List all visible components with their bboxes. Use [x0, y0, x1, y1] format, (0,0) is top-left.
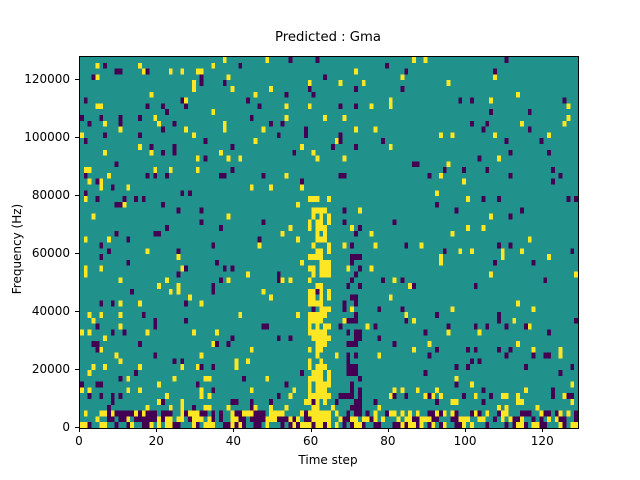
x-tick-label: 20 [149, 434, 164, 448]
x-tick-label: 60 [303, 434, 318, 448]
x-tick-mark [311, 428, 312, 432]
y-tick-label: 120000 [0, 72, 70, 86]
x-tick-label: 80 [380, 434, 395, 448]
x-tick-label: 0 [75, 434, 83, 448]
y-tick-mark [75, 311, 79, 312]
y-tick-mark [75, 195, 79, 196]
heatmap-plot-area [79, 56, 579, 429]
y-tick-mark [75, 79, 79, 80]
y-tick-label: 20000 [0, 362, 70, 376]
x-tick-mark [388, 428, 389, 432]
y-tick-label: 0 [0, 420, 70, 434]
matplotlib-figure: Predicted : Gma 020406080100120 02000040… [0, 0, 640, 480]
y-tick-mark [75, 369, 79, 370]
y-axis-label: Frequency (Hz) [10, 149, 24, 349]
x-tick-mark [79, 428, 80, 432]
x-tick-mark [156, 428, 157, 432]
y-tick-mark [75, 137, 79, 138]
x-tick-mark [542, 428, 543, 432]
x-tick-label: 40 [226, 434, 241, 448]
y-tick-mark [75, 427, 79, 428]
x-tick-label: 120 [531, 434, 554, 448]
x-tick-mark [465, 428, 466, 432]
y-tick-label: 100000 [0, 130, 70, 144]
page-title: Predicted : Gma [79, 30, 577, 46]
x-axis-label: Time step [79, 453, 577, 467]
y-tick-mark [75, 253, 79, 254]
x-tick-label: 100 [454, 434, 477, 448]
x-tick-mark [233, 428, 234, 432]
heatmap-image [80, 57, 578, 428]
